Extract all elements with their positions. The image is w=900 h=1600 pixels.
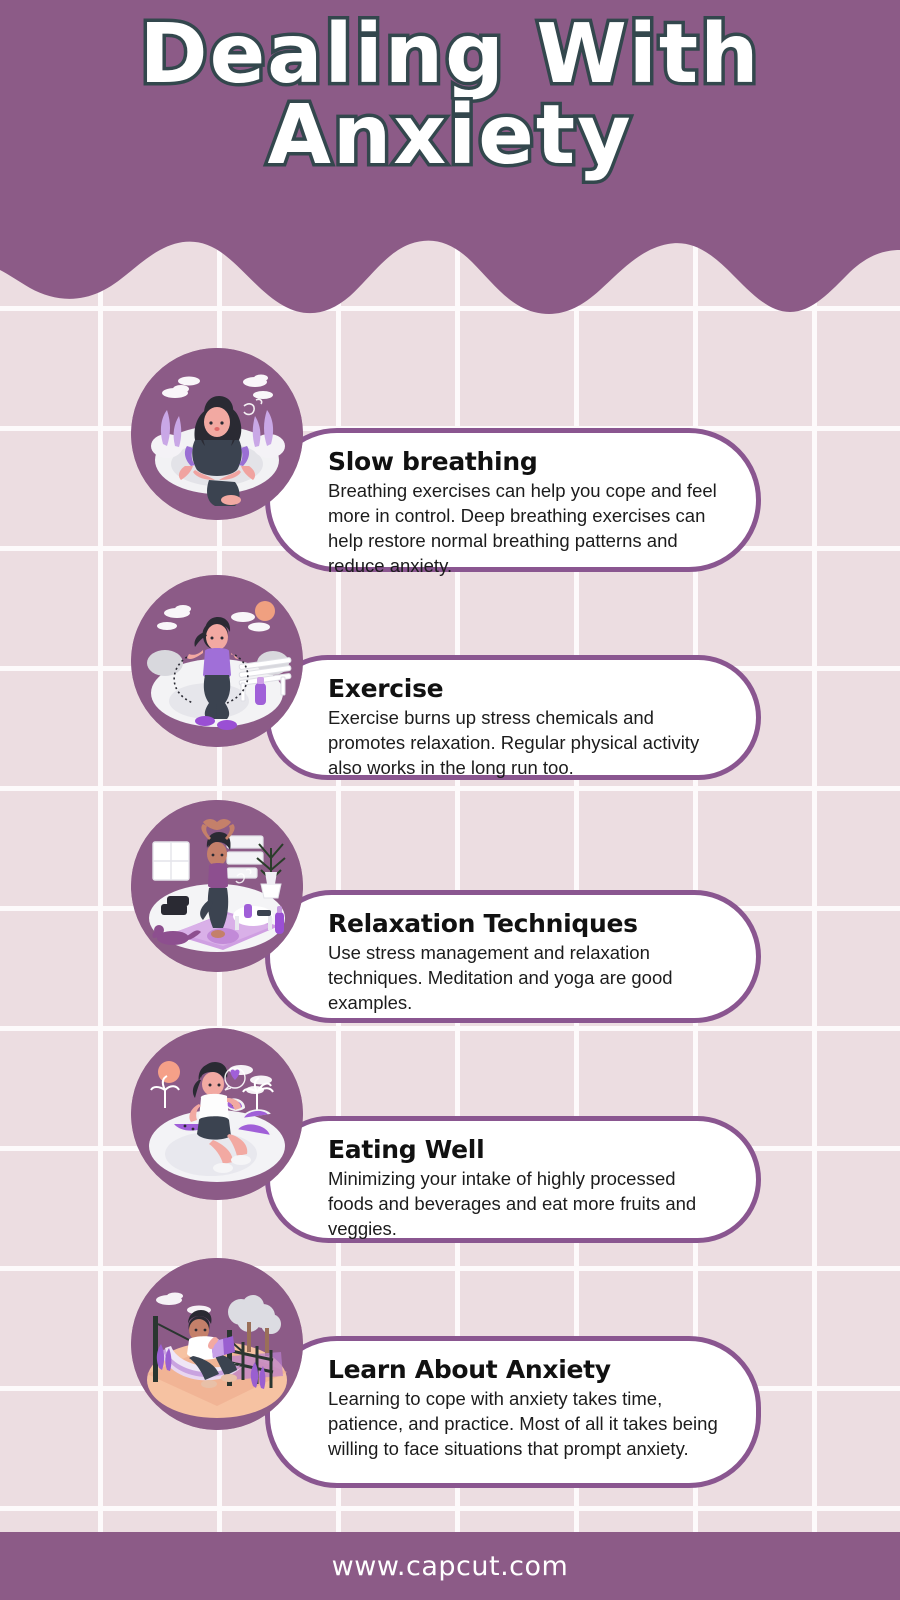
tip-card-5[interactable]: Learn About Anxiety Learning to cope wit…: [265, 1336, 761, 1488]
tip-title-5: Learn About Anxiety: [328, 1355, 722, 1384]
watermelon-beach-illustration: [131, 1028, 303, 1200]
tip-card-4[interactable]: Eating Well Minimizing your intake of hi…: [265, 1116, 761, 1243]
footer-url[interactable]: www.capcut.com: [332, 1551, 569, 1582]
hammock-reading-illustration: [131, 1258, 303, 1430]
tip-body-5: Learning to cope with anxiety takes time…: [328, 1386, 722, 1461]
tip-title-4: Eating Well: [328, 1135, 722, 1164]
tip-title-2: Exercise: [328, 674, 722, 703]
page-title: Dealing With Anxiety: [0, 14, 900, 176]
jump-rope-illustration: [131, 575, 303, 747]
tip-title-3: Relaxation Techniques: [328, 909, 722, 938]
header-banner: Dealing With Anxiety: [0, 0, 900, 330]
tip-card-2[interactable]: Exercise Exercise burns up stress chemic…: [265, 655, 761, 780]
tip-body-2: Exercise burns up stress chemicals and p…: [328, 705, 722, 780]
tip-title-1: Slow breathing: [328, 447, 722, 476]
tip-body-3: Use stress management and relaxation tec…: [328, 940, 722, 1015]
page-title-line2: Anxiety: [0, 95, 900, 176]
tip-body-1: Breathing exercises can help you cope an…: [328, 478, 722, 579]
meditation-illustration: [131, 348, 303, 520]
tip-card-3[interactable]: Relaxation Techniques Use stress managem…: [265, 890, 761, 1023]
tip-card-1[interactable]: Slow breathing Breathing exercises can h…: [265, 428, 761, 572]
footer-bar: www.capcut.com: [0, 1532, 900, 1600]
yoga-illustration: [131, 800, 303, 972]
tip-body-4: Minimizing your intake of highly process…: [328, 1166, 722, 1241]
